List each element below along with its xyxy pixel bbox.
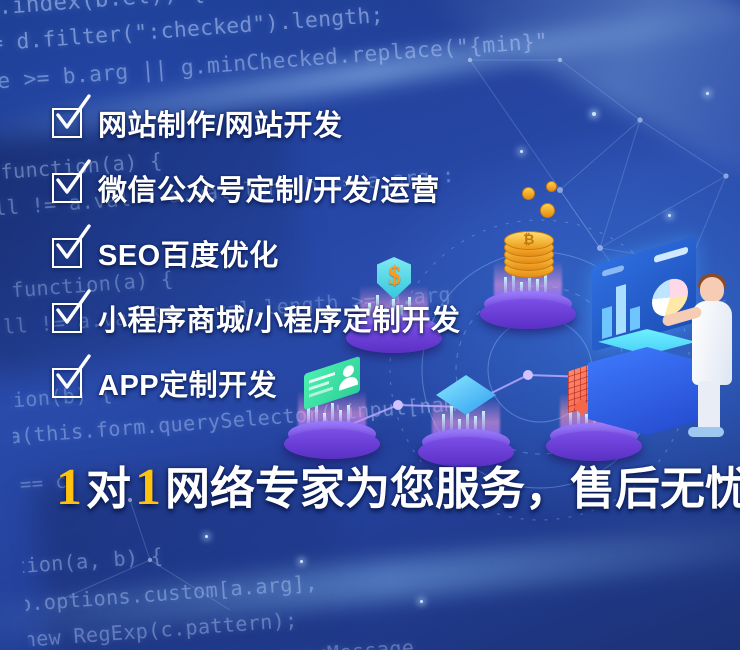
person-head — [700, 277, 724, 303]
particle — [420, 600, 423, 603]
person-shoe — [688, 427, 724, 437]
person-leg — [698, 381, 720, 431]
checkbox-checked-icon[interactable] — [52, 108, 82, 138]
particle — [706, 92, 709, 95]
checkbox-checked-icon[interactable] — [52, 238, 82, 268]
analyst-person — [684, 277, 740, 437]
checklist-item-label: 网站制作/网站开发 — [98, 102, 343, 144]
checkbox-checked-icon[interactable] — [52, 303, 82, 333]
checklist-item-label: APP定制开发 — [98, 362, 277, 404]
checklist-item-wechat[interactable]: 微信公众号定制/开发/运营 — [52, 165, 692, 211]
tagline: 1 对 1 网络专家为您服务，售后无忧！ — [52, 452, 740, 517]
checkbox-checked-icon[interactable] — [52, 368, 82, 398]
tagline-number-second: 1 — [131, 458, 165, 517]
services-checklist: 网站制作/网站开发 微信公众号定制/开发/运营 SEO百度优化 — [52, 100, 692, 425]
checklist-item-label: 微信公众号定制/开发/运营 — [98, 167, 440, 209]
particle — [300, 560, 303, 563]
checklist-item-app[interactable]: APP定制开发 — [52, 360, 692, 406]
tagline-word-mid: 对 — [86, 452, 131, 517]
checklist-item-label: 小程序商城/小程序定制开发 — [98, 297, 461, 339]
checkbox-checked-icon[interactable] — [52, 173, 82, 203]
checklist-item-label: SEO百度优化 — [98, 232, 279, 274]
tagline-number-first: 1 — [52, 458, 86, 517]
checklist-item-website[interactable]: 网站制作/网站开发 — [52, 100, 692, 146]
particle — [205, 535, 208, 538]
checklist-item-seo[interactable]: SEO百度优化 — [52, 230, 692, 276]
checklist-item-miniprogram[interactable]: 小程序商城/小程序定制开发 — [52, 295, 692, 341]
tagline-rest: 网络专家为您服务，售后无忧！ — [165, 452, 740, 517]
promo-banner: .querySelectorAll('input[type=checkbox]'… — [0, 0, 740, 650]
